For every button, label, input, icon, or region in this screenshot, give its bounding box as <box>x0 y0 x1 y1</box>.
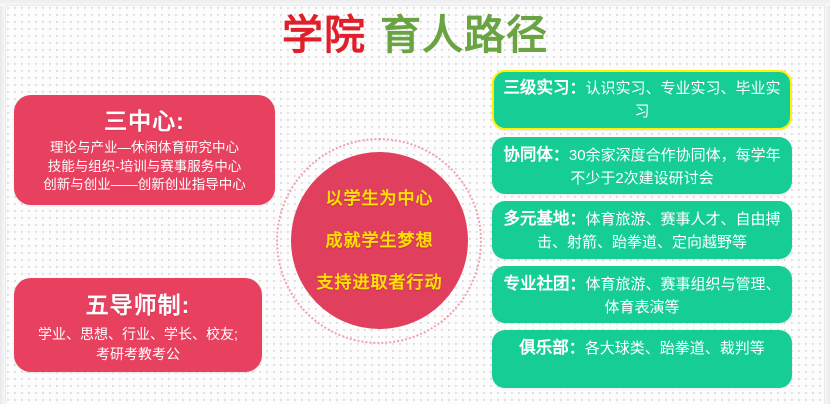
frame-edge-right <box>824 0 830 404</box>
page-title: 学院育人路径 <box>0 11 830 59</box>
card-professional-clubs[interactable]: 专业社团：体育旅游、赛事组织与管理、体育表演等 <box>492 266 792 323</box>
card-professional-clubs-body: 专业社团：体育旅游、赛事组织与管理、体育表演等 <box>500 273 784 319</box>
center-circle-line-1: 以学生为中心 <box>326 189 434 209</box>
center-circle-line-3: 支持进取者行动 <box>317 273 443 293</box>
card-five-mentors-line-2: 考研考教考公 <box>14 344 262 364</box>
card-diverse-bases-separator: ： <box>569 211 585 228</box>
card-professional-clubs-separator: ： <box>569 276 585 293</box>
center-circle-student-focus[interactable]: 以学生为中心 成就学生梦想 支持进取者行动 <box>291 152 468 329</box>
page-title-secondary: 育人路径 <box>380 12 548 58</box>
card-sports-clubs-label: 俱乐部 <box>519 339 569 357</box>
frame-edge-left <box>0 0 6 404</box>
card-collaborative-body-label: 协同体 <box>503 146 553 164</box>
center-circle-line-2: 成就学生梦想 <box>326 231 434 251</box>
card-three-level-internship-body: 三级实习：认识实习、专业实习、毕业实习 <box>500 77 784 123</box>
card-professional-clubs-text: 体育旅游、赛事组织与管理、体育表演等 <box>586 276 781 316</box>
card-three-level-internship[interactable]: 三级实习：认识实习、专业实习、毕业实习 <box>492 70 792 130</box>
frame-edge-top <box>0 0 830 6</box>
card-collaborative-body-body: 协同体：30余家深度合作协同体，每学年不少于2次建设研讨会 <box>500 144 784 190</box>
card-diverse-bases-body: 多元基地：体育旅游、赛事人才、自由搏击、射箭、跆拳道、定向越野等 <box>500 208 784 254</box>
page-title-primary: 学院 <box>282 12 366 58</box>
card-five-mentors-title: 五导师制: <box>14 290 262 320</box>
card-three-level-internship-separator: ： <box>569 80 585 97</box>
card-sports-clubs-separator: ： <box>569 340 585 357</box>
card-collaborative-body-separator: ： <box>553 147 569 164</box>
card-five-mentors[interactable]: 五导师制: 学业、思想、行业、学长、校友; 考研考教考公 <box>14 278 262 372</box>
card-three-level-internship-text: 认识实习、专业实习、毕业实习 <box>586 80 781 120</box>
card-three-level-internship-label: 三级实习 <box>503 79 569 97</box>
card-three-centers-title: 三中心: <box>14 106 275 136</box>
card-collaborative-body[interactable]: 协同体：30余家深度合作协同体，每学年不少于2次建设研讨会 <box>492 137 792 194</box>
card-five-mentors-line-1: 学业、思想、行业、学长、校友; <box>14 324 262 344</box>
card-sports-clubs-text: 各大球类、跆拳道、裁判等 <box>585 340 765 357</box>
slide-canvas: 学院育人路径 三中心: 理论与产业—休闲体育研究中心 技能与组织-培训与赛事服务… <box>0 0 830 404</box>
card-three-centers-line-1: 理论与产业—休闲体育研究中心 <box>14 139 275 158</box>
card-sports-clubs[interactable]: 俱乐部：各大球类、跆拳道、裁判等 <box>492 330 792 388</box>
card-diverse-bases[interactable]: 多元基地：体育旅游、赛事人才、自由搏击、射箭、跆拳道、定向越野等 <box>492 201 792 259</box>
card-professional-clubs-label: 专业社团 <box>503 275 569 293</box>
card-collaborative-body-text: 30余家深度合作协同体，每学年不少于2次建设研讨会 <box>569 147 781 187</box>
card-three-centers-line-2: 技能与组织-培训与赛事服务中心 <box>14 158 275 177</box>
card-sports-clubs-body: 俱乐部：各大球类、跆拳道、裁判等 <box>500 337 784 360</box>
card-diverse-bases-label: 多元基地 <box>503 210 569 228</box>
card-three-centers[interactable]: 三中心: 理论与产业—休闲体育研究中心 技能与组织-培训与赛事服务中心 创新与创… <box>14 95 275 205</box>
card-three-centers-line-3: 创新与创业——创新创业指导中心 <box>14 176 275 195</box>
